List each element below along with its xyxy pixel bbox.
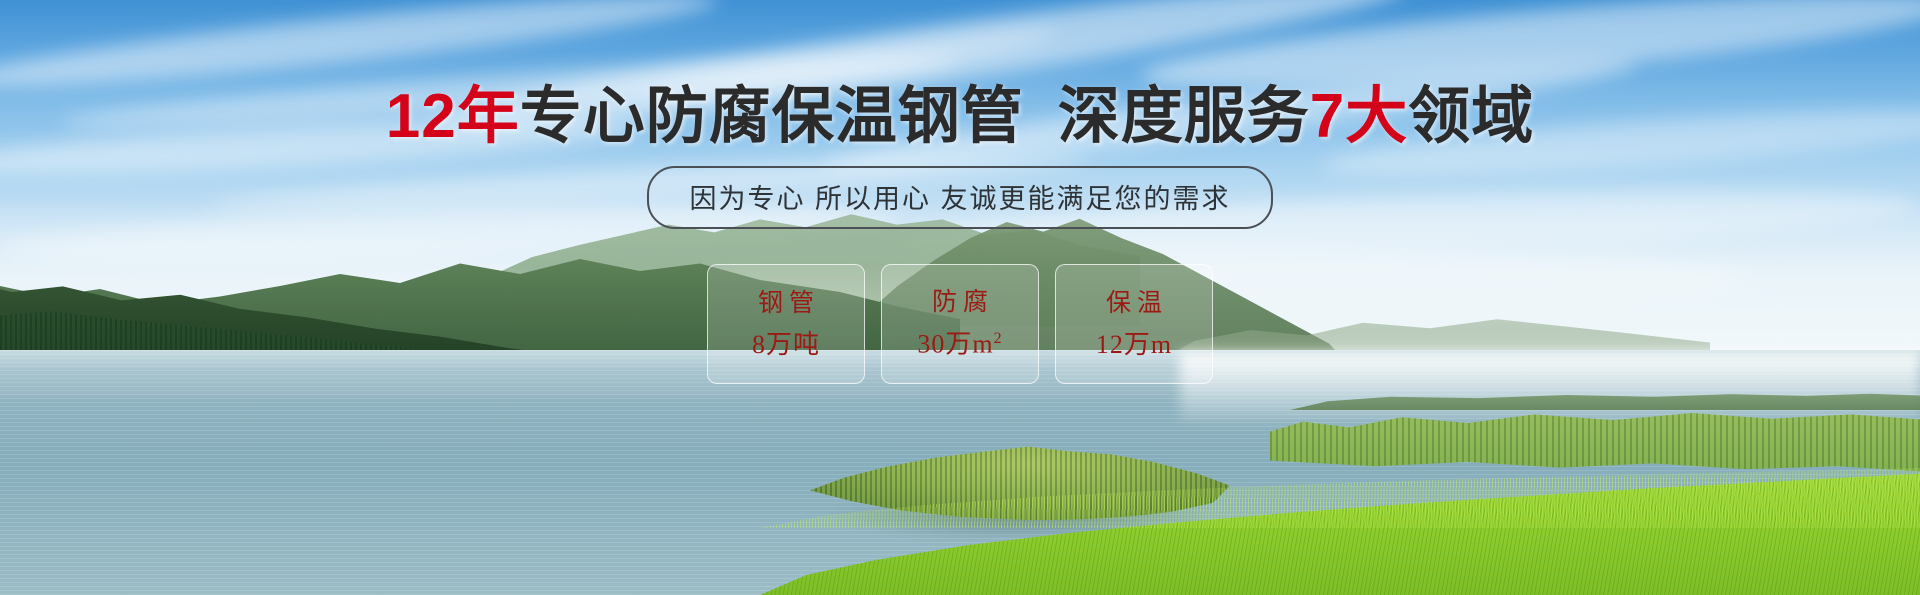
stat-cards: 钢管 8万吨 防腐 30万m2 保温 12万m (0, 264, 1920, 384)
stat-value-main: 12万m (1096, 330, 1172, 359)
stat-value-main: 30万m (917, 330, 993, 359)
subtitle-pill: 因为专心 所以用心 友诚更能满足您的需求 (647, 166, 1272, 229)
stat-card-label: 防腐 (926, 290, 994, 315)
headline-segment-2: 深度服务 (1058, 82, 1310, 151)
stat-card-label: 钢管 (752, 291, 820, 316)
headline: 12年专心防腐保温钢管深度服务7大领域 (0, 86, 1920, 148)
headline-highlight-unit: 大 (1345, 82, 1408, 151)
stat-card-value: 12万m (1096, 332, 1172, 358)
stat-card-label: 保温 (1100, 291, 1168, 316)
banner-content: 12年专心防腐保温钢管深度服务7大领域 因为专心 所以用心 友诚更能满足您的需求… (0, 0, 1920, 595)
subtitle-container: 因为专心 所以用心 友诚更能满足您的需求 (0, 166, 1920, 229)
headline-years-number: 12 (386, 82, 457, 151)
stat-value-main: 8万吨 (752, 330, 820, 359)
stat-value-superscript: 2 (994, 330, 1003, 347)
headline-segment-3: 领域 (1408, 82, 1534, 151)
hero-banner: 12年专心防腐保温钢管深度服务7大领域 因为专心 所以用心 友诚更能满足您的需求… (0, 0, 1920, 595)
headline-years-unit: 年 (457, 82, 520, 151)
stat-card-steel-pipe[interactable]: 钢管 8万吨 (707, 264, 865, 384)
stat-card-value: 8万吨 (752, 332, 820, 358)
stat-card-value: 30万m2 (917, 331, 1002, 358)
headline-highlight-number: 7 (1310, 82, 1345, 151)
stat-card-insulation[interactable]: 保温 12万m (1055, 264, 1213, 384)
headline-segment-1: 专心防腐保温钢管 (520, 82, 1024, 151)
stat-card-anticorrosion[interactable]: 防腐 30万m2 (881, 264, 1039, 384)
